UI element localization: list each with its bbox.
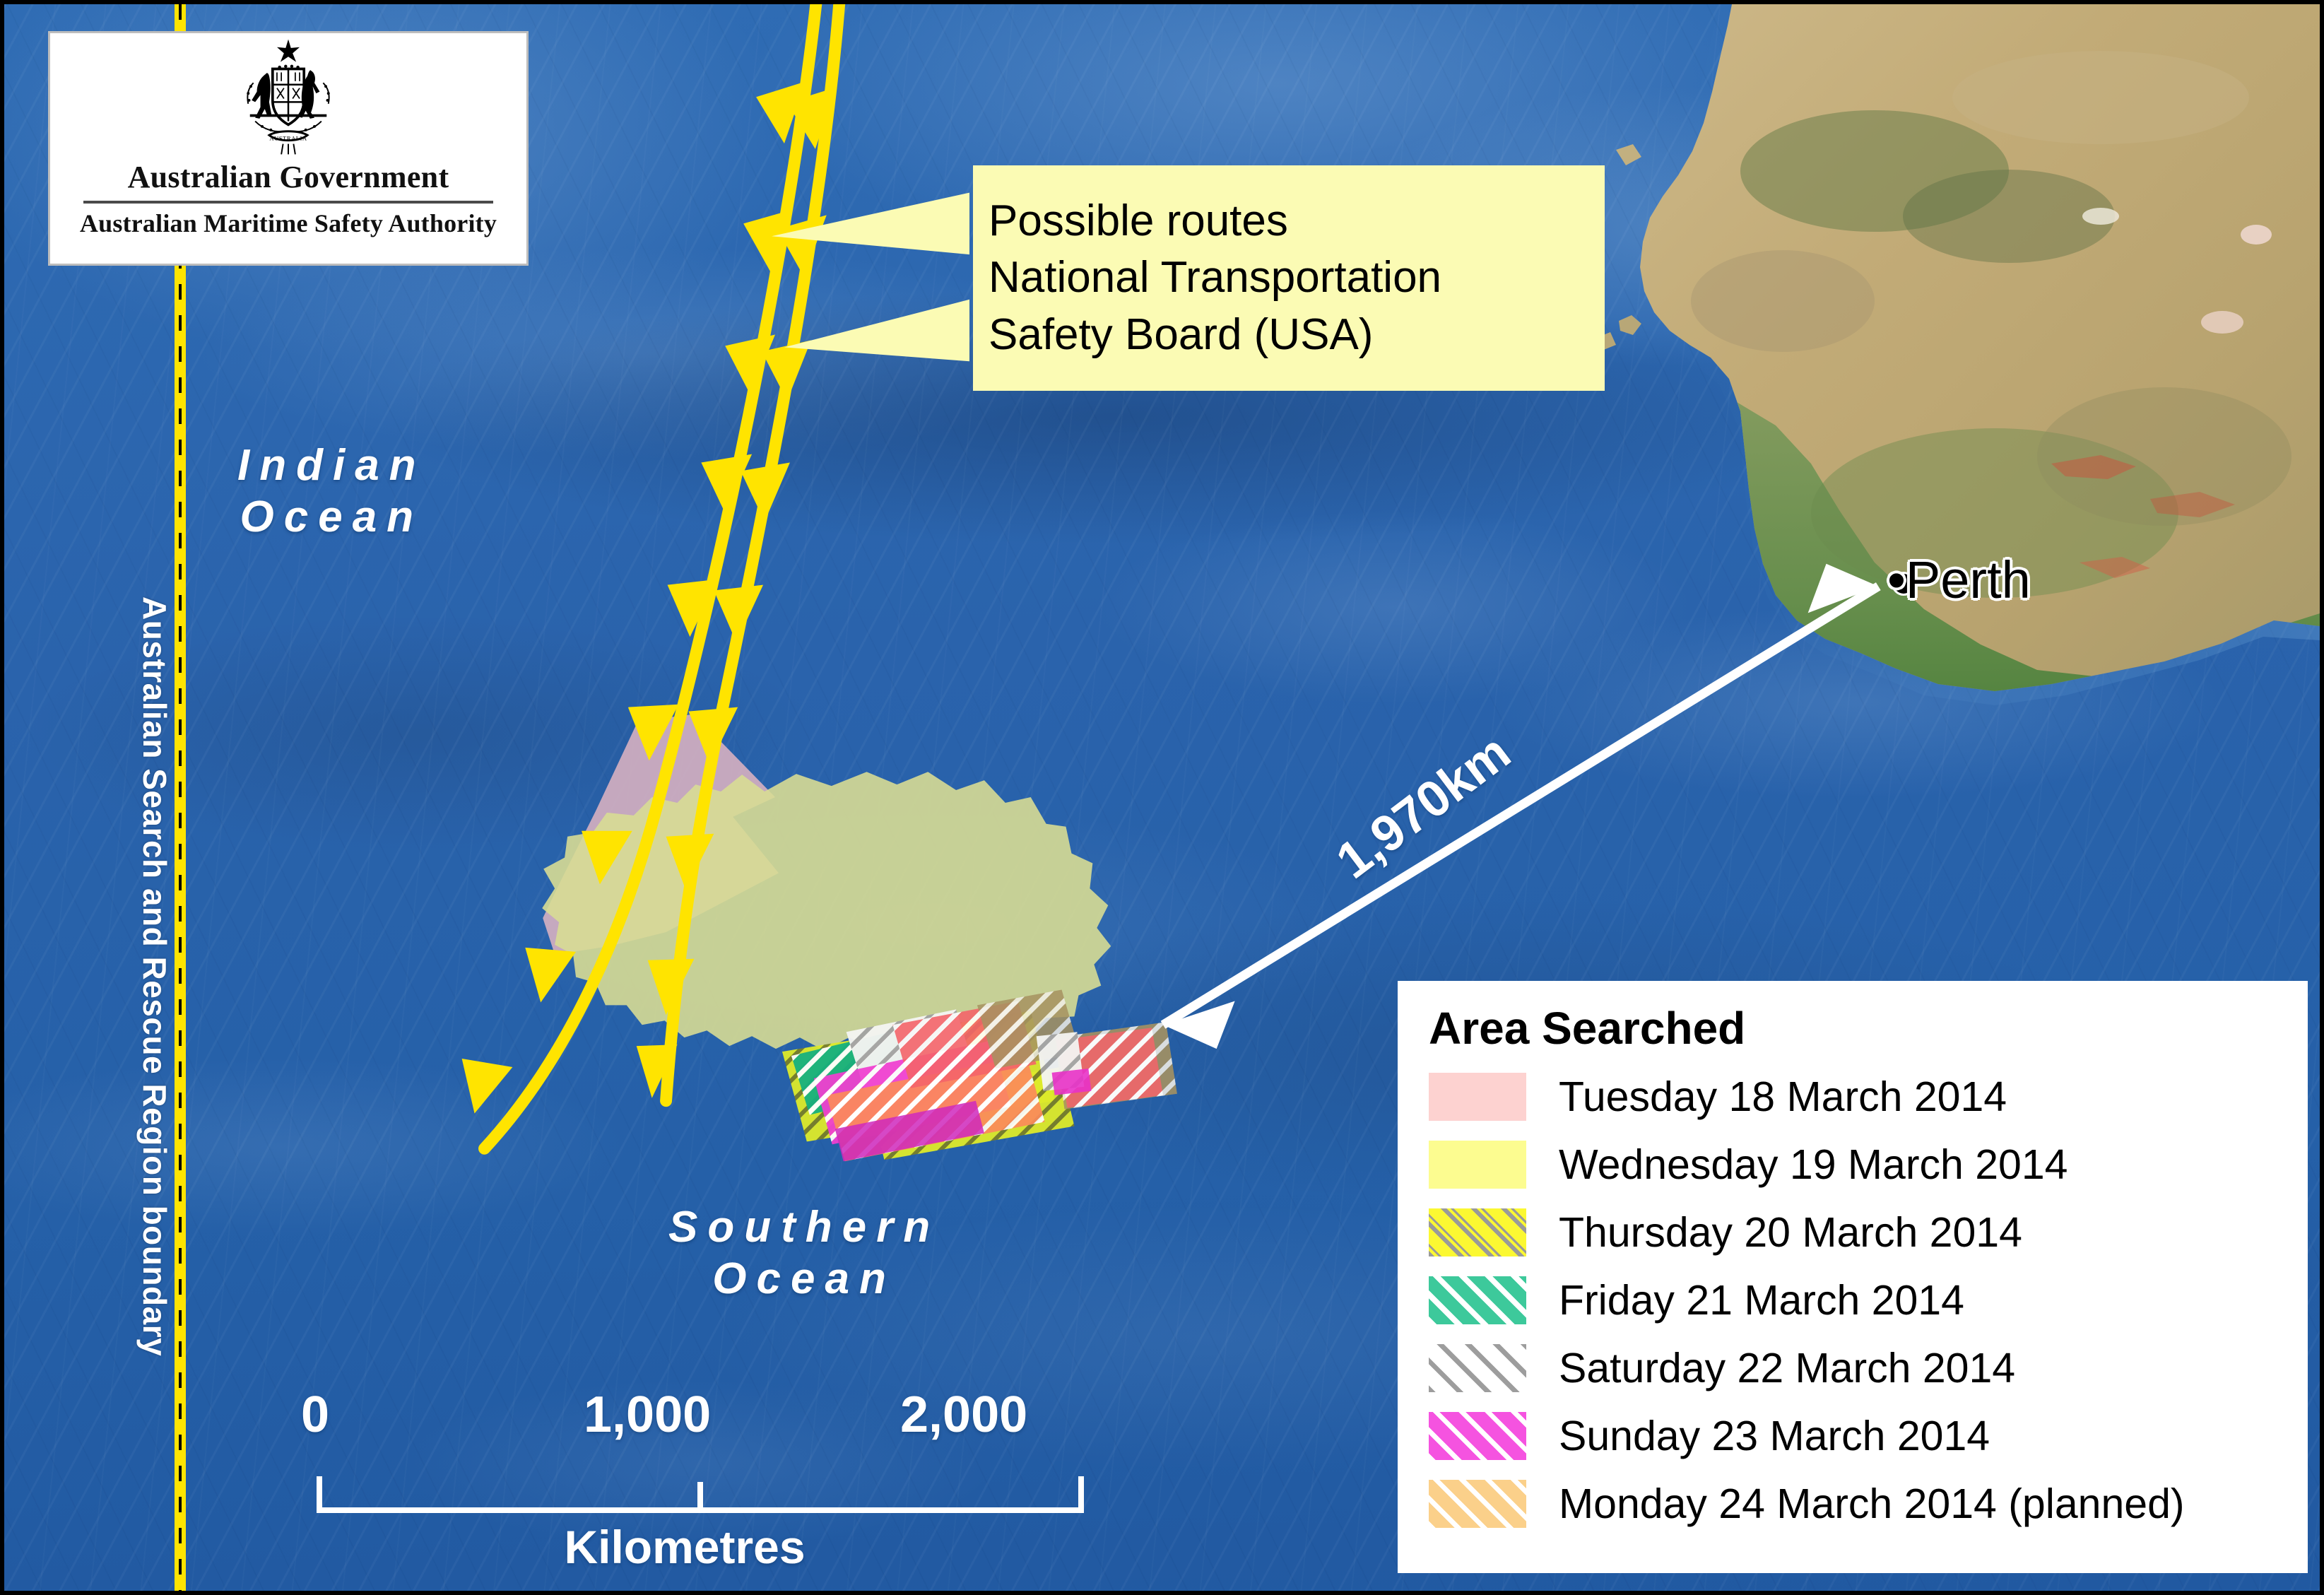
legend-row-saturday: Saturday 22 March 2014 [1429, 1334, 2289, 1402]
legend-swatch-thursday [1429, 1208, 1526, 1256]
scale-tick-mark-left [317, 1476, 322, 1513]
legend-swatch-monday [1429, 1480, 1526, 1528]
scale-tick-labels: 0 1,000 2,000 [301, 1386, 1114, 1456]
svg-text:AUSTRALIA: AUSTRALIA [269, 135, 307, 142]
legend-row-tuesday: Tuesday 18 March 2014 [1429, 1063, 2289, 1131]
distance-arrow-shaft [1163, 587, 1878, 1025]
australian-coat-of-arms-icon: AUSTRALIA [236, 37, 341, 156]
legend-swatch-saturday [1429, 1344, 1526, 1392]
legend-label-monday: Monday 24 March 2014 (planned) [1559, 1480, 2185, 1528]
southern-ocean-line2: Ocean [668, 1253, 940, 1305]
legend-row-wednesday: Wednesday 19 March 2014 [1429, 1131, 2289, 1199]
callout-line-1: Possible routes [989, 193, 1605, 250]
scale-tick-mark-right [1078, 1476, 1084, 1513]
legend-row-friday: Friday 21 March 2014 [1429, 1266, 2289, 1334]
search-band-east-sunday [1052, 1069, 1092, 1095]
label-southern-ocean: Southern Ocean [668, 1201, 940, 1305]
indian-ocean-line1: Indian [237, 441, 426, 490]
southern-ocean-line1: Southern [668, 1203, 940, 1252]
scale-tick-2000: 2,000 [900, 1386, 1027, 1444]
logo-government-line: Australian Government [128, 159, 449, 195]
logo-agency-line: Australian Maritime Safety Authority [80, 208, 497, 238]
logo-divider [83, 201, 493, 204]
scale-tick-mark-middle [697, 1482, 703, 1513]
legend-row-sunday: Sunday 23 March 2014 [1429, 1402, 2289, 1470]
legend-swatch-sunday [1429, 1412, 1526, 1460]
legend-label-friday: Friday 21 March 2014 [1559, 1276, 1964, 1324]
legend-label-sunday: Sunday 23 March 2014 [1559, 1412, 1990, 1460]
scale-unit-label: Kilometres [301, 1520, 1068, 1574]
map-canvas: Australian Search and Rescue Region boun… [0, 0, 2324, 1595]
indian-ocean-line2: Ocean [237, 491, 426, 543]
legend-label-tuesday: Tuesday 18 March 2014 [1559, 1073, 2007, 1121]
sar-boundary-label: Australian Search and Rescue Region boun… [127, 596, 182, 1536]
perth-city-label: •Perth [1887, 550, 2031, 610]
callout-line-2: National Transportation [989, 249, 1605, 307]
label-indian-ocean: Indian Ocean [237, 440, 426, 543]
scale-tick-1000: 1,000 [584, 1386, 711, 1444]
legend-swatch-friday [1429, 1276, 1526, 1324]
amsa-logo-box: AUSTRALIA Australian Government Australi… [48, 31, 529, 266]
scale-tick-0: 0 [301, 1386, 329, 1444]
legend-swatch-wednesday [1429, 1141, 1526, 1189]
legend-area-searched: Area Searched Tuesday 18 March 2014 Wedn… [1398, 981, 2308, 1573]
legend-row-monday: Monday 24 March 2014 (planned) [1429, 1470, 2289, 1538]
scale-bar-graphic [317, 1464, 1084, 1513]
distance-arrow [1163, 564, 1878, 1049]
callout-leader-lower [784, 300, 969, 362]
legend-label-wednesday: Wednesday 19 March 2014 [1559, 1141, 2068, 1189]
legend-title: Area Searched [1429, 1002, 2289, 1054]
legend-label-thursday: Thursday 20 March 2014 [1559, 1208, 2022, 1256]
callout-line-3: Safety Board (USA) [989, 307, 1605, 364]
legend-label-saturday: Saturday 22 March 2014 [1559, 1344, 2015, 1392]
scale-bar: 0 1,000 2,000 Kilometres [301, 1386, 1114, 1577]
legend-swatch-tuesday [1429, 1073, 1526, 1121]
legend-row-thursday: Thursday 20 March 2014 [1429, 1199, 2289, 1266]
possible-routes-callout: Possible routes National Transportation … [973, 165, 1605, 391]
